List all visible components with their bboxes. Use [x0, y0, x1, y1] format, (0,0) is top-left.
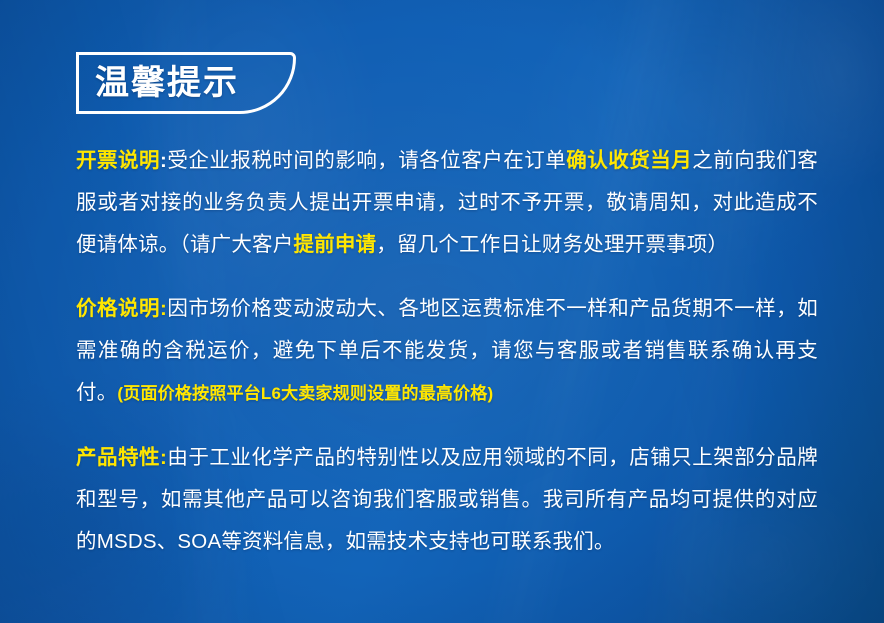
notice-paragraph-invoice: 开票说明:受企业报税时间的影响，请各位客户在订单确认收货当月之前向我们客服或者对… [76, 140, 818, 266]
title-plaque: 温馨提示 [76, 52, 296, 114]
invoice-notice-label-colon: : [160, 149, 167, 172]
notice-paragraph-price: 价格说明:因市场价格变动波动大、各地区运费标准不一样和产品货期不一样，如需准确的… [76, 288, 818, 415]
page-title: 温馨提示 [79, 66, 239, 100]
price-notice-footnote: (页面价格按照平台L6大卖家规则设置的最高价格) [117, 384, 493, 403]
price-notice-label: 价格说明: [76, 297, 167, 320]
invoice-notice-label: 开票说明 [76, 149, 160, 172]
notice-paragraph-features: 产品特性:由于工业化学产品的特别性以及应用领域的不同，店铺只上架部分品牌和型号，… [76, 437, 818, 563]
invoice-notice-highlight-1: 确认收货当月 [566, 149, 692, 172]
product-features-label: 产品特性: [76, 446, 167, 469]
promo-banner: 温馨提示 开票说明:受企业报税时间的影响，请各位客户在订单确认收货当月之前向我们… [0, 0, 884, 623]
product-features-text-1: 由于工业化学产品的特别性以及应用领域的不同，店铺只上架部分品牌和型号，如需其他产… [76, 446, 818, 553]
invoice-notice-text-1: 受企业报税时间的影响，请各位客户在订单 [167, 149, 566, 172]
notice-content: 开票说明:受企业报税时间的影响，请各位客户在订单确认收货当月之前向我们客服或者对… [76, 140, 818, 563]
invoice-notice-text-3: ，留几个工作日让财务处理开票事项） [376, 233, 728, 256]
invoice-notice-highlight-2: 提前申请 [293, 233, 376, 256]
